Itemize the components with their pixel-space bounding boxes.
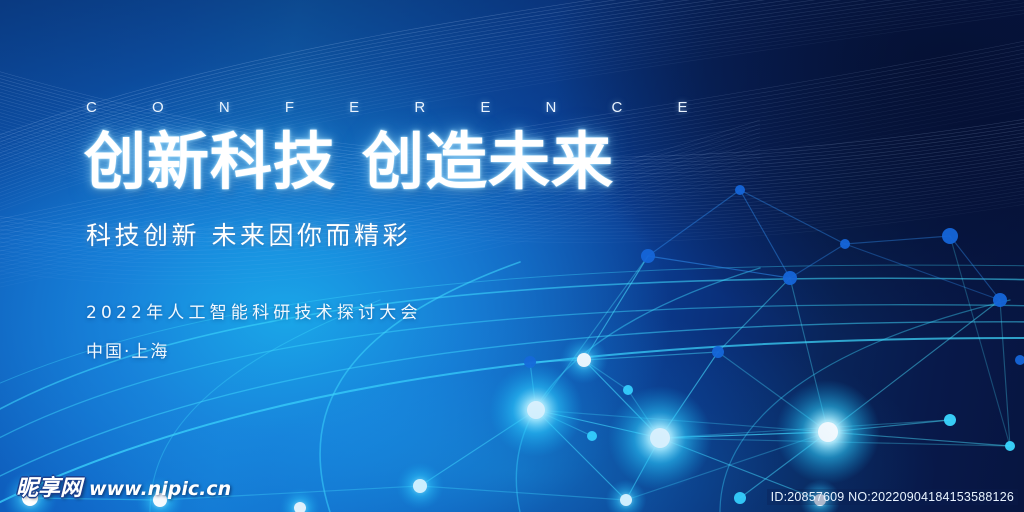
network-node xyxy=(944,414,956,426)
network-node xyxy=(527,401,545,419)
event-name: 2022年人工智能科研技术探讨大会 xyxy=(86,298,724,323)
poster-text-block: C O N F E R E N C E 创新科技创造未来 科技创新 未来因你而精… xyxy=(84,100,724,362)
network-node xyxy=(623,385,633,395)
network-node xyxy=(1005,441,1015,451)
watermark: 昵享网 www.nipic.cn xyxy=(16,470,231,502)
network-node xyxy=(818,422,838,442)
network-node xyxy=(993,293,1007,307)
nipic-logo-text: 昵享网 xyxy=(16,470,82,502)
network-node xyxy=(734,492,746,504)
asset-id-label: ID:20857609 NO:20220904184153588126 xyxy=(767,489,1018,505)
headline-part-1: 创新科技 xyxy=(84,125,336,198)
network-link xyxy=(845,244,1000,300)
network-node xyxy=(735,185,745,195)
network-link xyxy=(718,278,790,352)
network-node xyxy=(1015,355,1024,365)
page-title: 创新科技创造未来 xyxy=(84,129,724,195)
network-node xyxy=(413,479,427,493)
network-node xyxy=(783,271,797,285)
headline-part-2: 创造未来 xyxy=(362,125,614,198)
event-location: 中国·上海 xyxy=(86,337,724,362)
conference-poster: C O N F E R E N C E 创新科技创造未来 科技创新 未来因你而精… xyxy=(0,0,1024,512)
network-link xyxy=(420,486,626,500)
network-node xyxy=(650,428,670,448)
kicker-conference: C O N F E R E N C E xyxy=(86,100,724,115)
network-link xyxy=(950,236,1010,446)
network-node xyxy=(620,494,632,506)
subtitle: 科技创新 未来因你而精彩 xyxy=(86,216,724,252)
nipic-url-text: www.nipic.cn xyxy=(89,478,231,500)
network-node xyxy=(840,239,850,249)
network-node xyxy=(587,431,597,441)
network-node xyxy=(942,228,958,244)
network-link xyxy=(845,236,950,244)
network-link xyxy=(790,244,845,278)
